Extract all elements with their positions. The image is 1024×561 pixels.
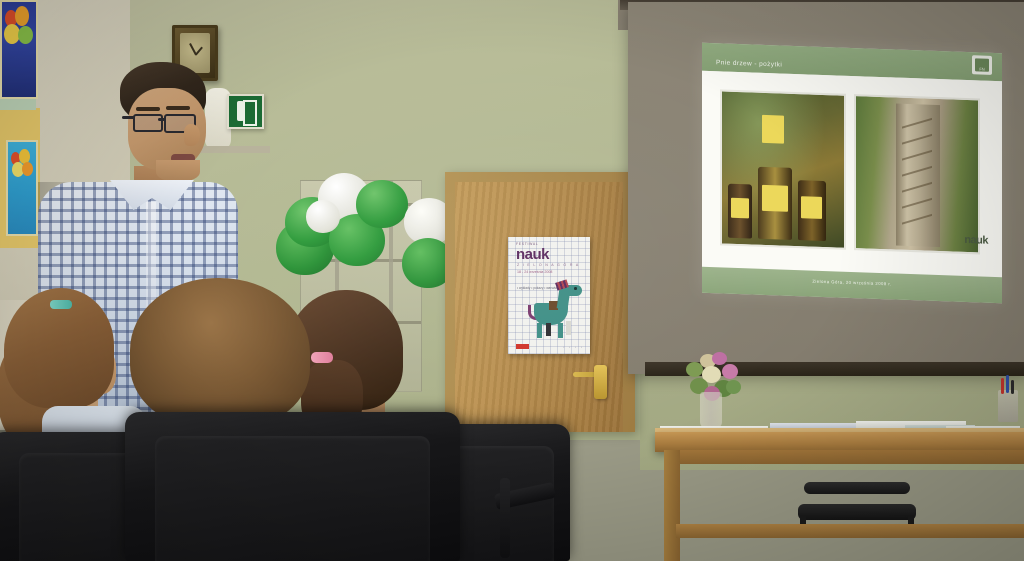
flower-blob-icon [18,26,33,44]
poster-footer-marks: • • • • [563,345,584,349]
bottle-shape [758,167,792,240]
resin-scar [902,150,932,161]
resin-scar [902,134,932,145]
bottle-label [762,185,788,212]
projected-slide: Pnie drzew - pożytki FN [702,43,1002,303]
table-leg [664,450,680,561]
presenter-chin [156,160,200,182]
pen-black [1011,380,1014,394]
flower-head [712,352,727,365]
poster-subtitle: Z I E L O N A G Ó R A [517,263,580,267]
slide-caption: Zielona Góra, 20 września 2008 r. [812,279,891,287]
bottle-label [801,196,822,219]
horse-leg [537,323,542,338]
photograph-scene: FESTIWAL nauk Z I E L O N A G Ó R A 18 -… [0,0,1024,561]
bottle-shape [728,184,752,239]
slide-brand-logo: nauk [964,234,988,247]
table-lower-rail [676,524,1024,538]
poster-title: nauk [516,247,549,262]
door-lever-handle[interactable] [573,372,596,377]
teal-hair-clip [50,300,72,309]
horse-leg [558,323,563,338]
foreground-chair [125,412,460,561]
slide-title: Pnie drzew - pożytki [716,59,782,68]
poster-horse-artwork [528,279,582,341]
bottle-label [731,198,749,219]
tree-trunk-shape [896,104,940,248]
presenter-eyebrow [136,107,160,111]
chair-backrest [804,482,910,494]
horse-leg [566,321,571,335]
poster-red-mark [516,344,529,349]
picture-flowers-blue-vase-top [0,0,38,99]
slide-header-logo: FN [972,55,992,75]
chair-back-inset [155,436,430,561]
child-hair [130,278,310,428]
door-lock-plate[interactable] [594,365,607,399]
exit-door-glyph [243,100,257,126]
flower-blob-icon [15,6,29,26]
presenter-eyebrow [166,106,190,110]
pen-red [1001,378,1004,394]
poster-date: 18 - 24 września 2008 [517,270,552,274]
white-balloon [306,200,340,233]
wooden-door[interactable]: FESTIWAL nauk Z I E L O N A G Ó R A 18 -… [455,182,623,432]
slide-image-bottles [720,89,846,249]
flower-head [726,380,741,394]
resin-scar [902,214,932,225]
projection-screen: Pnie drzew - pożytki FN [628,2,1024,374]
festival-poster: FESTIWAL nauk Z I E L O N A G Ó R A 18 -… [508,237,590,354]
horse-eye [574,287,577,290]
glasses-lens-left [133,114,163,132]
resin-scar [902,182,932,193]
slide-body: nauk [702,71,1002,277]
resin-scar [902,166,932,177]
resin-scar [902,118,932,129]
poster-footer: • • • • [516,344,584,349]
pen-holder [998,390,1018,422]
bottle-shape [798,180,826,241]
clock-hand-icon [195,47,203,56]
door-frame: FESTIWAL nauk Z I E L O N A G Ó R A 18 -… [445,172,635,432]
green-balloon [356,180,408,228]
flower-head [686,362,703,377]
picture-flowers-blue-vase-bottom [6,140,38,236]
shelf-label [762,115,784,144]
slide-image-tree-trunk [854,94,980,254]
wooden-table-top [655,432,1024,452]
horse-leg [546,323,551,336]
presenter-nose [184,124,200,146]
slide-header-logo-label: FN [975,58,989,71]
flower-head [722,364,738,379]
child-left [0,288,128,438]
pen-blue [1006,375,1009,393]
chair-seat [798,504,916,520]
glasses-bridge [158,118,166,121]
resin-scar [902,198,932,209]
flower-blob-icon [22,162,33,176]
table-apron [666,450,1024,464]
chair-armrest-post [500,478,510,558]
